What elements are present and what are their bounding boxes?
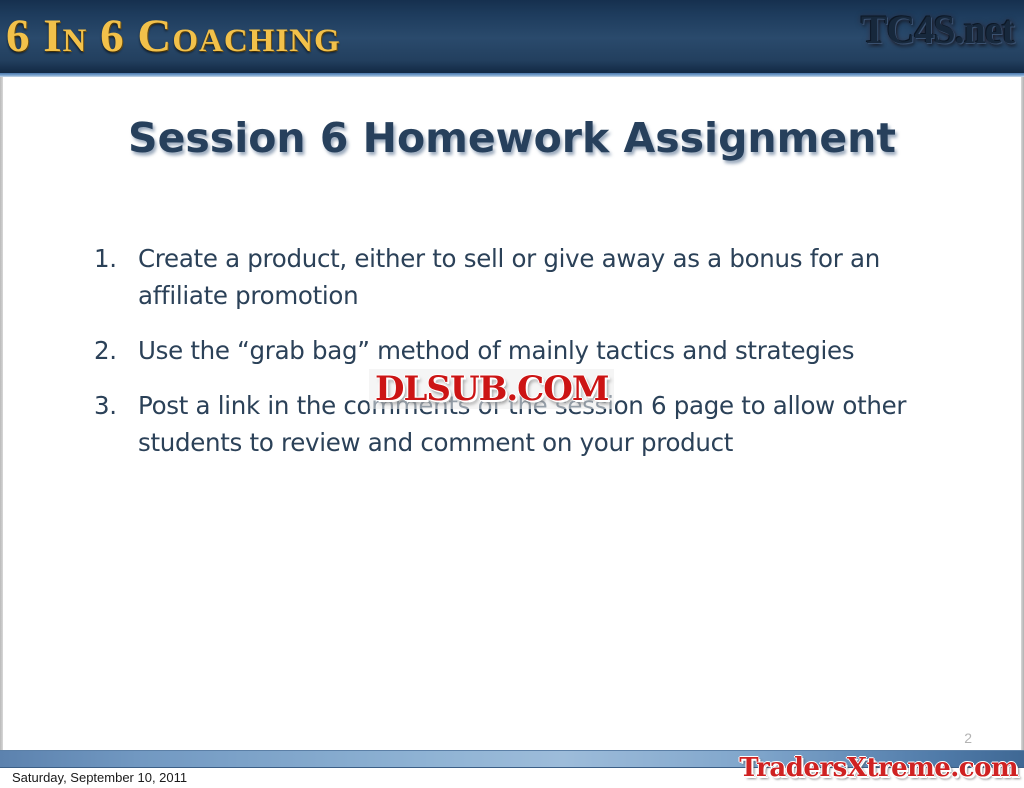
list-item-marker: 2. [94, 332, 124, 369]
list-item-text: Use the “grab bag” method of mainly tact… [138, 332, 922, 369]
brand-title: 6 In 6 Coaching [6, 6, 341, 66]
page-title: Session 6 Homework Assignment [0, 114, 1024, 162]
header-accent-line [0, 73, 1024, 77]
list-item-text: Create a product, either to sell or give… [138, 240, 922, 314]
homework-list: 1. Create a product, either to sell or g… [92, 240, 922, 479]
tc4s-logo: TC4S.net [861, 2, 1014, 58]
dlsub-watermark: DLSUB.COM [369, 369, 614, 409]
header-banner: 6 In 6 Coaching TC4S.net [0, 0, 1024, 73]
list-item: 2. Use the “grab bag” method of mainly t… [92, 332, 922, 369]
slide-canvas: 6 In 6 Coaching TC4S.net Session 6 Homew… [0, 0, 1024, 788]
tradersxtreme-logo: TradersXtreme.com [739, 752, 1018, 784]
list-item: 1. Create a product, either to sell or g… [92, 240, 922, 314]
list-item-marker: 3. [94, 387, 124, 424]
list-item-marker: 1. [94, 240, 124, 277]
slide-number: 2 [964, 730, 972, 746]
content-border-left [0, 77, 3, 750]
footer-date: Saturday, September 10, 2011 [12, 770, 187, 785]
